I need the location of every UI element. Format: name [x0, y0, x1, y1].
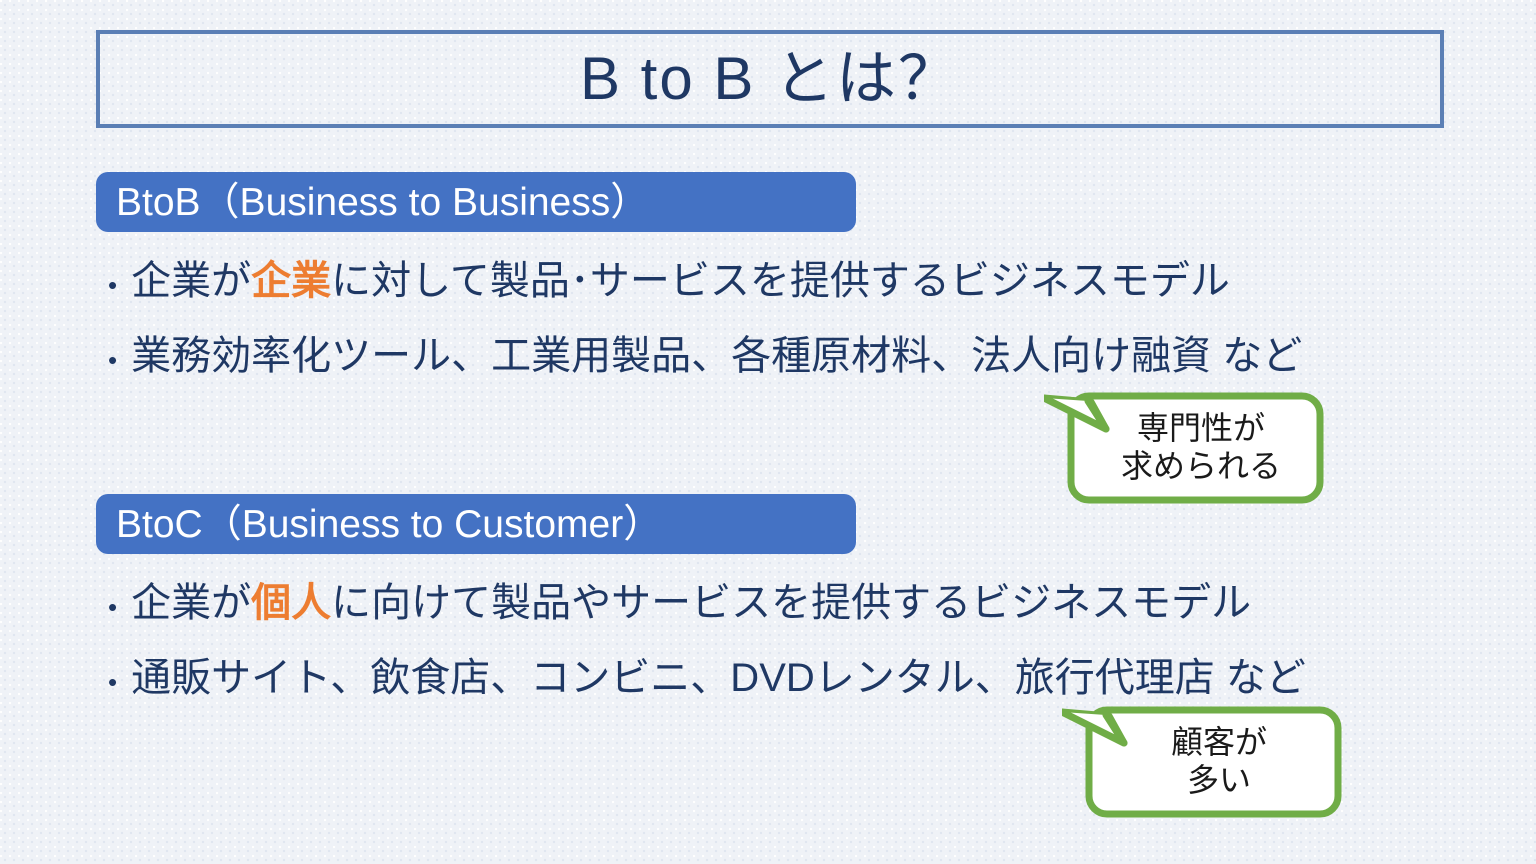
slide-canvas: B to B とは？ BtoB（Business to Business） • … [0, 0, 1536, 864]
page-title: B to B とは？ [580, 49, 960, 109]
bullet-btoc-2-text: 通販サイト、飲食店、コンビニ、DVDレンタル、旅行代理店 など [131, 655, 1306, 701]
callout-expertise-label: 専門性が 求められる [1088, 398, 1314, 498]
bullet-text-highlight: 個人 [251, 581, 331, 625]
bullet-marker-icon: • [108, 272, 117, 298]
bullet-text-part: に向けて製品やサービスを提供するビジネスモデル [331, 581, 1251, 625]
bullet-btob-1-text: 企業が企業に対して製品･サービスを提供するビジネスモデル [131, 258, 1230, 304]
bullet-marker-icon: • [108, 594, 117, 620]
bullet-text-part: に対して製品･サービスを提供するビジネスモデル [331, 259, 1230, 303]
section-header-btoc-label: BtoC（Business to Customer） [116, 505, 662, 544]
callout-line-2: 求められる [1121, 448, 1281, 486]
section-header-btob-label: BtoB（Business to Business） [116, 183, 649, 222]
callout-expertise: 専門性が 求められる [1044, 392, 1324, 504]
bullet-marker-icon: • [108, 669, 117, 695]
bullet-text-highlight: 企業 [251, 259, 331, 303]
title-box: B to B とは？ [96, 30, 1444, 128]
bullet-marker-icon: • [108, 347, 117, 373]
bullet-btoc-2: • 通販サイト、飲食店、コンビニ、DVDレンタル、旅行代理店 など [108, 655, 1306, 701]
bullet-text-part: 企業が [131, 581, 251, 625]
bullet-btob-2: • 業務効率化ツール、工業用製品、各種原材料、法人向け融資 など [108, 333, 1302, 379]
bullet-btob-2-text: 業務効率化ツール、工業用製品、各種原材料、法人向け融資 など [131, 333, 1302, 379]
callout-line-1: 顧客が [1171, 724, 1267, 762]
section-header-btob: BtoB（Business to Business） [96, 172, 856, 232]
bullet-btoc-1-text: 企業が個人に向けて製品やサービスを提供するビジネスモデル [131, 580, 1251, 626]
bullet-btoc-1: • 企業が個人に向けて製品やサービスを提供するビジネスモデル [108, 580, 1251, 626]
callout-customers: 顧客が 多い [1062, 706, 1342, 818]
callout-line-1: 専門性が [1137, 410, 1265, 448]
bullet-btob-1: • 企業が企業に対して製品･サービスを提供するビジネスモデル [108, 258, 1230, 304]
bullet-text-part: 企業が [131, 259, 251, 303]
callout-line-2: 多い [1187, 762, 1251, 800]
callout-customers-label: 顧客が 多い [1106, 712, 1332, 812]
section-header-btoc: BtoC（Business to Customer） [96, 494, 856, 554]
